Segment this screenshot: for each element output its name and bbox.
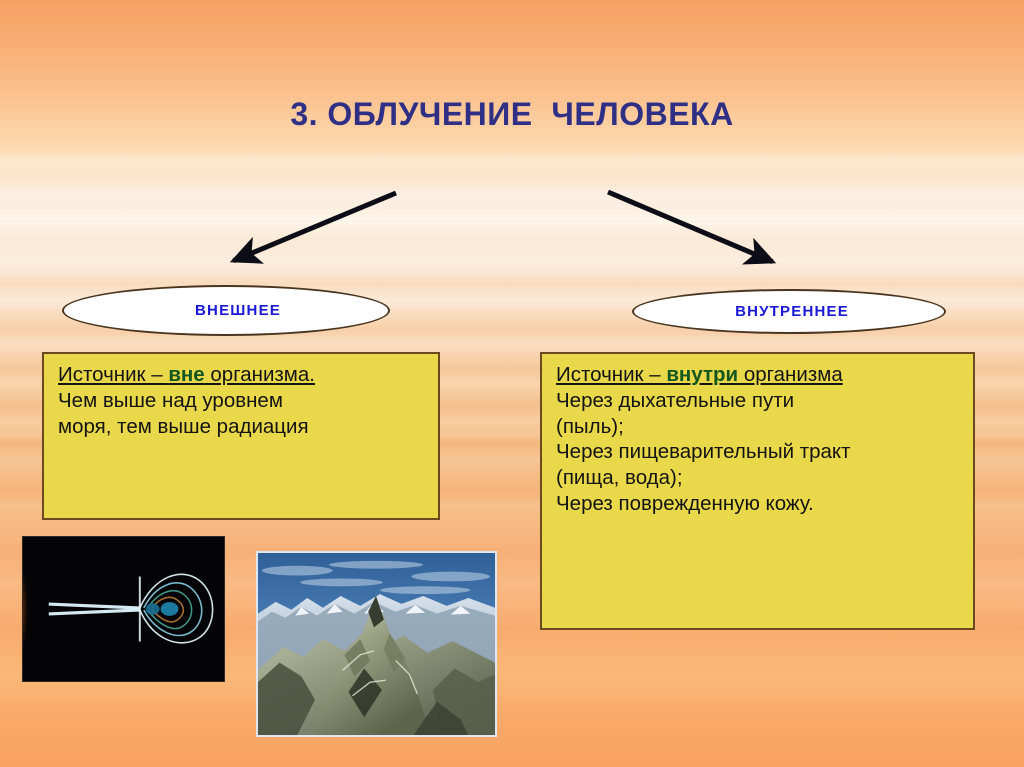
info-line: Через пищеварительный тракт bbox=[556, 439, 963, 465]
magnetosphere-image bbox=[22, 536, 225, 682]
info-text-highlight: вне bbox=[168, 363, 204, 386]
info-box-internal: Источник – внутри организма Через дыхате… bbox=[540, 352, 975, 630]
info-line: Через поврежденную кожу. bbox=[556, 491, 963, 517]
info-line: (пища, вода); bbox=[556, 465, 963, 491]
ellipse-internal[interactable]: ВНУТРЕННЕЕ bbox=[632, 289, 946, 334]
info-line: Источник – вне организма. bbox=[58, 362, 428, 388]
haze-streak bbox=[0, 268, 1024, 278]
info-box-external: Источник – вне организма. Чем выше над у… bbox=[42, 352, 440, 520]
mountains-illustration bbox=[258, 553, 495, 735]
page-title: 3. ОБЛУЧЕНИЕ ЧЕЛОВЕКА bbox=[0, 96, 1024, 133]
slide-canvas: 3. ОБЛУЧЕНИЕ ЧЕЛОВЕКА ВНЕШНЕЕ ВНУТРЕННЕЕ… bbox=[0, 0, 1024, 767]
ellipse-internal-label: ВНУТРЕННЕЕ bbox=[735, 303, 849, 320]
info-line: Чем выше над уровнем bbox=[58, 388, 428, 414]
haze-streak bbox=[0, 240, 1024, 252]
info-line: Через дыхательные пути bbox=[556, 388, 963, 414]
info-text-after: организма bbox=[738, 363, 843, 386]
mountains-image bbox=[256, 551, 497, 737]
arrow-to-external bbox=[234, 193, 396, 261]
info-line: Источник – внутри организма bbox=[556, 362, 963, 388]
ellipse-external[interactable]: ВНЕШНЕЕ bbox=[62, 285, 390, 336]
haze-streak bbox=[0, 150, 1024, 176]
arrow-to-internal bbox=[608, 192, 772, 262]
haze-streak bbox=[0, 212, 1024, 226]
info-line: (пыль); bbox=[556, 414, 963, 440]
info-text-highlight: внутри bbox=[666, 363, 738, 386]
info-text-after: организма. bbox=[205, 363, 315, 386]
info-text-before: Источник – bbox=[556, 363, 666, 386]
magnetosphere-illustration bbox=[23, 537, 224, 681]
haze-streak bbox=[0, 186, 1024, 204]
haze-streak bbox=[0, 336, 1024, 345]
info-text-before: Источник – bbox=[58, 363, 168, 386]
info-line: моря, тем выше радиация bbox=[58, 414, 428, 440]
ellipse-external-label: ВНЕШНЕЕ bbox=[195, 302, 281, 319]
